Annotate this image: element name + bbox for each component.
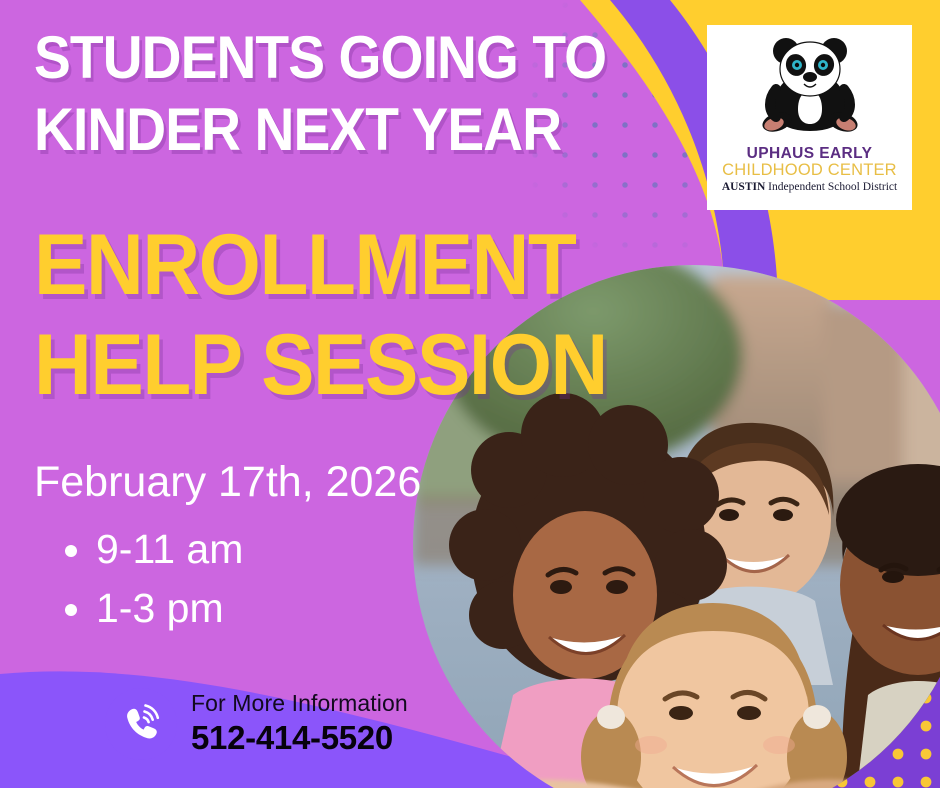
logo-line-2: CHILDHOOD CENTER [722, 162, 897, 179]
copy-block: STUDENTS GOING TO KINDER NEXT YEAR ENROL… [0, 0, 620, 788]
phone-badge [105, 688, 177, 760]
list-item-time: 1-3 pm [96, 579, 243, 638]
headline-main-line-1: ENROLLMENT [34, 222, 575, 308]
headline-top-line-1: STUDENTS GOING TO [34, 28, 606, 88]
panda-icon [750, 29, 870, 145]
event-date: February 17th, 2026 [34, 458, 421, 507]
logo-district-rest: Independent School District [765, 181, 897, 193]
flyer-canvas: UPHAUS EARLY CHILDHOOD CENTER AUSTIN Ind… [0, 0, 940, 788]
headline-top-line-2: KINDER NEXT YEAR [34, 100, 561, 160]
logo-line-1: UPHAUS EARLY [747, 146, 873, 162]
logo-district-bold: AUSTIN [722, 181, 765, 193]
list-item-time: 9-11 am [96, 520, 243, 579]
contact-phone-number[interactable]: 512-414-5520 [191, 719, 408, 757]
contact-block[interactable]: For More Information 512-414-5520 [105, 688, 408, 760]
event-times-list: 9-11 am 1-3 pm [58, 520, 243, 639]
phone-ringing-icon [119, 702, 163, 746]
uphaus-logo-card: UPHAUS EARLY CHILDHOOD CENTER AUSTIN Ind… [707, 25, 912, 210]
logo-district-line: AUSTIN Independent School District [722, 181, 897, 193]
headline-main-line-2: HELP SESSION [34, 322, 607, 408]
contact-text: For More Information 512-414-5520 [191, 691, 408, 756]
contact-label: For More Information [191, 691, 408, 716]
